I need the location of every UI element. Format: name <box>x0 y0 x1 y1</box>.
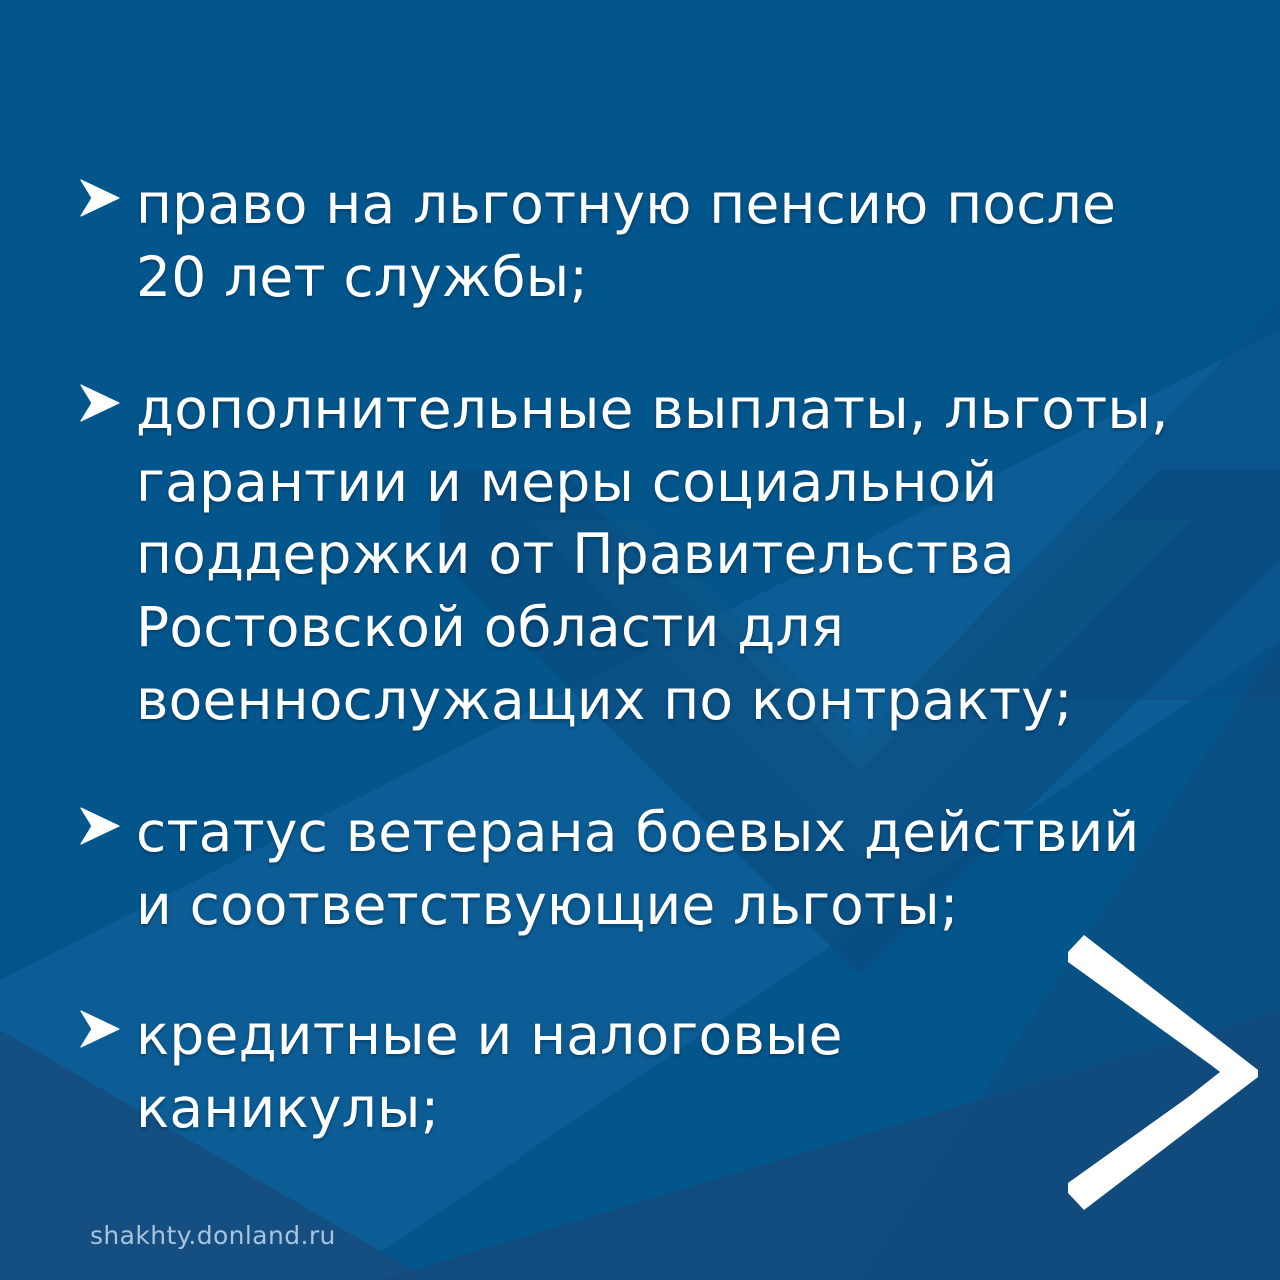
list-item-text: статус ветерана боевых действий и соотве… <box>136 796 1198 941</box>
list-item: право на льготную пенсию после 20 лет сл… <box>78 168 1198 313</box>
arrowhead-bullet-icon <box>78 796 136 846</box>
list-item-text: кредитные и налоговые каникулы; <box>136 999 1198 1144</box>
list-item: статус ветерана боевых действий и соотве… <box>78 796 1198 941</box>
list-item: дополнительные выплаты, льготы, гарантии… <box>78 373 1198 736</box>
arrowhead-bullet-icon <box>78 373 136 423</box>
footer-site-url: shakhty.donland.ru <box>90 1221 336 1250</box>
next-chevron-icon[interactable] <box>1068 935 1258 1210</box>
list-item-text: дополнительные выплаты, льготы, гарантии… <box>136 373 1198 736</box>
benefits-bullet-list: право на льготную пенсию после 20 лет сл… <box>78 168 1198 1145</box>
arrowhead-bullet-icon <box>78 168 136 218</box>
slide-canvas: право на льготную пенсию после 20 лет сл… <box>0 0 1280 1280</box>
arrowhead-bullet-icon <box>78 999 136 1049</box>
list-item-text: право на льготную пенсию после 20 лет сл… <box>136 168 1198 313</box>
list-item: кредитные и налоговые каникулы; <box>78 999 1198 1144</box>
